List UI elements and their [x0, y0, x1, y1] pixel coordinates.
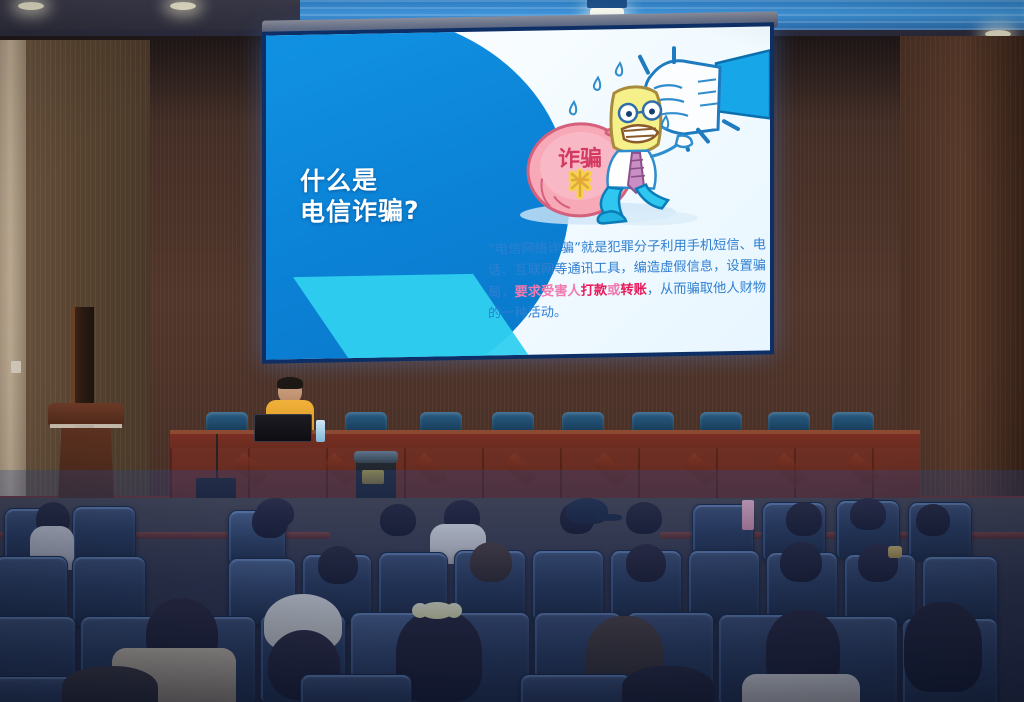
attendee-hair-bow: [420, 602, 454, 619]
attendee-head-a5: [850, 498, 886, 530]
seat-b7[interactable]: [532, 550, 604, 620]
lectern: [52, 403, 120, 513]
attendee-head-a7: [380, 504, 416, 536]
slide-title-line-1: 什么是: [300, 163, 500, 197]
slide-title: 什么是 电信诈骗?: [300, 163, 500, 228]
slide-body-text: “电信网络诈骗”就是犯罪分子利用手机短信、电话、互联网等通讯工具，编造虚假信息，…: [488, 234, 766, 325]
audience-area: [0, 498, 1024, 702]
attendee-head-a4: [786, 502, 822, 536]
audience-bottle: [742, 500, 754, 530]
slide-highlight-red-2: 转账: [620, 282, 646, 297]
sack-label: 诈骗: [558, 145, 602, 172]
slide-title-line-2: 电信诈骗?: [300, 194, 500, 228]
water-bottle: [316, 420, 325, 442]
seat-a2[interactable]: [72, 506, 136, 562]
attendee-head-b3: [626, 544, 666, 582]
left-wall-pillar: [0, 40, 26, 560]
lectern-stripe: [50, 424, 122, 428]
seat-d3[interactable]: [520, 674, 632, 702]
slide-highlight-red-1: 打款: [581, 283, 607, 298]
attendee-head-a6: [916, 504, 950, 536]
seat-b9[interactable]: [688, 550, 760, 620]
lectern-body: [58, 428, 114, 500]
attendee-head-b4: [780, 542, 822, 582]
fraud-punch-illustration: 诈骗: [502, 44, 770, 239]
downlight-left-2: [170, 2, 196, 10]
attendee-head-d2: [622, 666, 714, 702]
trash-bin-label: [362, 470, 384, 484]
attendee-head-b1: [318, 546, 358, 584]
microphone-stand: [216, 434, 218, 482]
attendee-body-c5: [742, 674, 860, 702]
attendee-head-c6: [904, 602, 982, 692]
projection-screen: 什么是 电信诈骗?: [262, 22, 774, 363]
auditorium-scene: 什么是 电信诈骗?: [0, 0, 1024, 702]
attendee-head-b2: [470, 542, 512, 582]
slide-highlight-pink-1: 要求受害人: [514, 284, 580, 300]
laptop[interactable]: [254, 414, 312, 442]
attendee-head-d1: [62, 666, 158, 702]
light-switch-plate[interactable]: [11, 361, 21, 373]
attendee-head-a10: [626, 502, 662, 534]
presenter-hair: [277, 377, 303, 389]
attendee-head-a3: [256, 498, 294, 528]
downlight-left-1: [18, 2, 44, 10]
lectern-top: [48, 403, 124, 425]
presentation-slide: 什么是 电信诈骗?: [266, 26, 770, 359]
attendee-cap-brim: [596, 514, 622, 521]
trash-bin-lid: [354, 451, 398, 463]
slide-highlight-pink-2: 或: [607, 283, 620, 298]
seat-d2[interactable]: [300, 674, 412, 702]
attendee-hairclip-gold: [888, 546, 902, 558]
